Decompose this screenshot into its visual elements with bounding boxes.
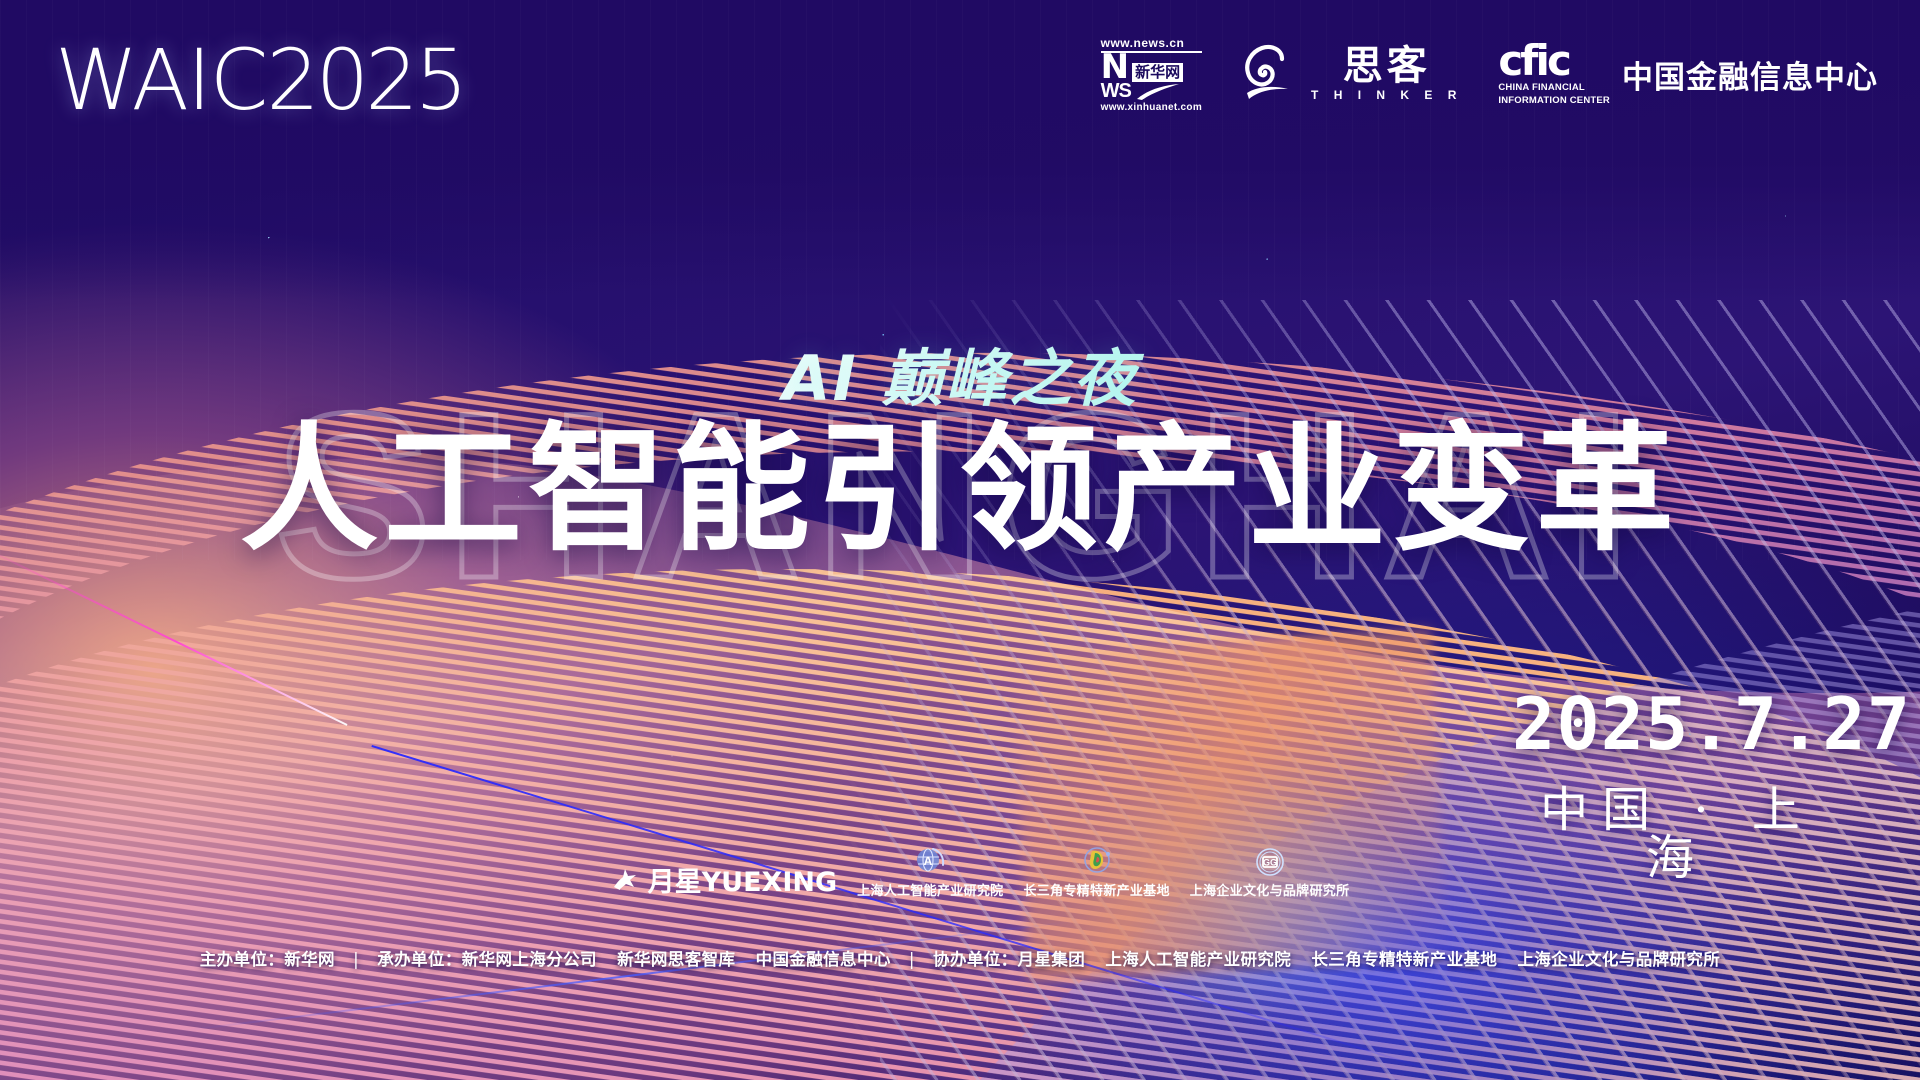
cfic-letters: cfic [1498, 42, 1568, 80]
sponsor-logo-strip: 月星YUEXING A 上海人工智能产业研究院 长三角专精特新产业基地 [0, 846, 1920, 899]
partner-logo-cfic: cfic CHINA FINANCIAL INFORMATION CENTER … [1498, 42, 1878, 106]
poster-canvas: SHANGHAI WAIC2025 www.news.cn N 新华网 WS w… [0, 0, 1920, 1080]
svg-text:A: A [924, 854, 933, 868]
footer-organizer-1: 承办单位：新华网上海分公司 [377, 950, 597, 969]
thinker-cn-label: 思客 [1343, 46, 1431, 86]
xinhua-cn-label: 新华网 [1132, 63, 1183, 82]
sponsor-ai-institute: A 上海人工智能产业研究院 [857, 846, 1003, 899]
xinhua-mark: N 新华网 [1101, 54, 1183, 82]
background-orange-streak [1012, 629, 1449, 981]
event-subtitle: AI 巅峰之夜 [0, 328, 1920, 418]
footer-coorganizer-4: 上海企业文化与品牌研究所 [1517, 950, 1720, 969]
footer-divider-2: | [897, 950, 927, 969]
cfic-en-line1: CHINA FINANCIAL [1498, 82, 1585, 93]
cfic-en-line2: INFORMATION CENTER [1498, 95, 1610, 106]
ai-institute-globe-icon: A [913, 846, 947, 878]
brand-institute-seal-icon: GG [1254, 846, 1286, 878]
footer-coorganizer-1: 协办单位：月星集团 [933, 950, 1085, 969]
footer-organizer-3: 中国金融信息中心 [756, 950, 891, 969]
waic-logo-text: WAIC [55, 31, 266, 129]
footer-coorganizer-3: 长三角专精特新产业基地 [1311, 950, 1497, 969]
footer-divider-1: | [341, 950, 371, 969]
xinhua-n-letter: N [1101, 54, 1129, 82]
partner-logo-row: www.news.cn N 新华网 WS www.xinhuanet.com 思… [1101, 36, 1878, 113]
partner-logo-xinhuanet: www.news.cn N 新华网 WS www.xinhuanet.com [1101, 36, 1202, 113]
xinhua-swoosh-icon [1136, 83, 1180, 101]
thinker-en-label: T H I N K E R [1311, 88, 1462, 102]
footer-organizer-2: 新华网思客智库 [617, 950, 735, 969]
footer-coorganizer-2: 上海人工智能产业研究院 [1105, 950, 1291, 969]
xinhua-url-bottom: www.xinhuanet.com [1101, 102, 1202, 113]
waic-logo: WAIC2025 [55, 38, 464, 122]
cfic-cn-label: 中国金融信息中心 [1622, 52, 1878, 97]
footer-credits: 主办单位：新华网 | 承办单位：新华网上海分公司 新华网思客智库 中国金融信息中… [0, 946, 1920, 970]
sponsor-yrd-base-label: 长三角专精特新产业基地 [1023, 880, 1169, 899]
sponsor-yrd-base: 长三角专精特新产业基地 [1023, 846, 1169, 899]
sponsor-yuexing-label: 月星YUEXING [648, 860, 838, 899]
waic-logo-year: 2025 [266, 31, 464, 129]
yuexing-star-icon [611, 865, 641, 895]
thinker-spiral-icon [1238, 43, 1302, 105]
event-date: 2025.7.27 [1512, 688, 1842, 760]
sponsor-brand-institute: GG 上海企业文化与品牌研究所 [1190, 846, 1350, 899]
svg-text:GG: GG [1263, 858, 1277, 868]
sponsor-ai-institute-label: 上海人工智能产业研究院 [857, 880, 1003, 899]
yrd-base-globe-icon [1080, 846, 1114, 878]
xinhua-ws-letters: WS [1101, 83, 1131, 100]
sponsor-brand-institute-label: 上海企业文化与品牌研究所 [1190, 880, 1350, 899]
event-headline: 人工智能引领产业变革 [0, 415, 1920, 564]
partner-logo-thinker: 思客 T H I N K E R [1238, 43, 1462, 105]
footer-host: 主办单位：新华网 [200, 950, 335, 969]
sponsor-yuexing: 月星YUEXING [611, 860, 838, 899]
